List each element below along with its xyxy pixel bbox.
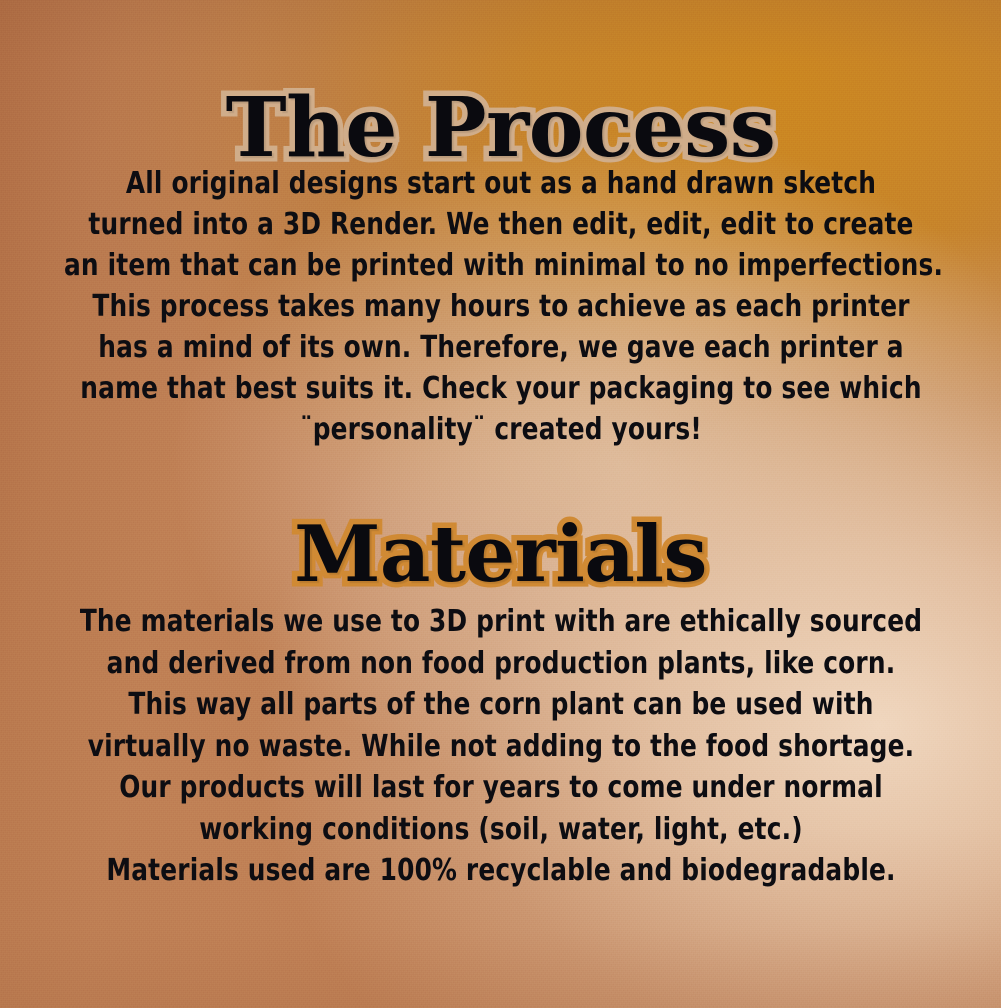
process-line: name that best suits it. Check your pack…	[64, 368, 938, 409]
materials-section-paragraph: The materials we use to 3D print with ar…	[26, 601, 976, 892]
materials-line: This way all parts of the corn plant can…	[64, 684, 938, 726]
materials-line: Our products will last for years to come…	[64, 767, 938, 809]
materials-line: and derived from non food production pla…	[64, 643, 938, 685]
process-line: turned into a 3D Render. We then edit, e…	[64, 204, 938, 245]
process-section-paragraph: All original designs start out as a hand…	[26, 163, 976, 450]
process-line: an item that can be printed with minimal…	[64, 245, 938, 286]
process-line: has a mind of its own. Therefore, we gav…	[64, 327, 938, 368]
process-line: All original designs start out as a hand…	[64, 163, 938, 204]
process-line: ¨personality¨ created yours!	[64, 409, 938, 450]
card-content: The Process All original designs start o…	[0, 0, 1001, 1008]
materials-section-title: Materials	[0, 516, 1001, 594]
materials-line: virtually no waste. While not adding to …	[64, 726, 938, 768]
process-section-title: The Process	[0, 87, 1001, 169]
materials-line: The materials we use to 3D print with ar…	[64, 601, 938, 643]
info-card: The Process All original designs start o…	[0, 0, 1001, 1008]
process-line: This process takes many hours to achieve…	[64, 286, 938, 327]
materials-line: Materials used are 100% recyclable and b…	[64, 850, 938, 892]
materials-line: working conditions (soil, water, light, …	[64, 809, 938, 851]
